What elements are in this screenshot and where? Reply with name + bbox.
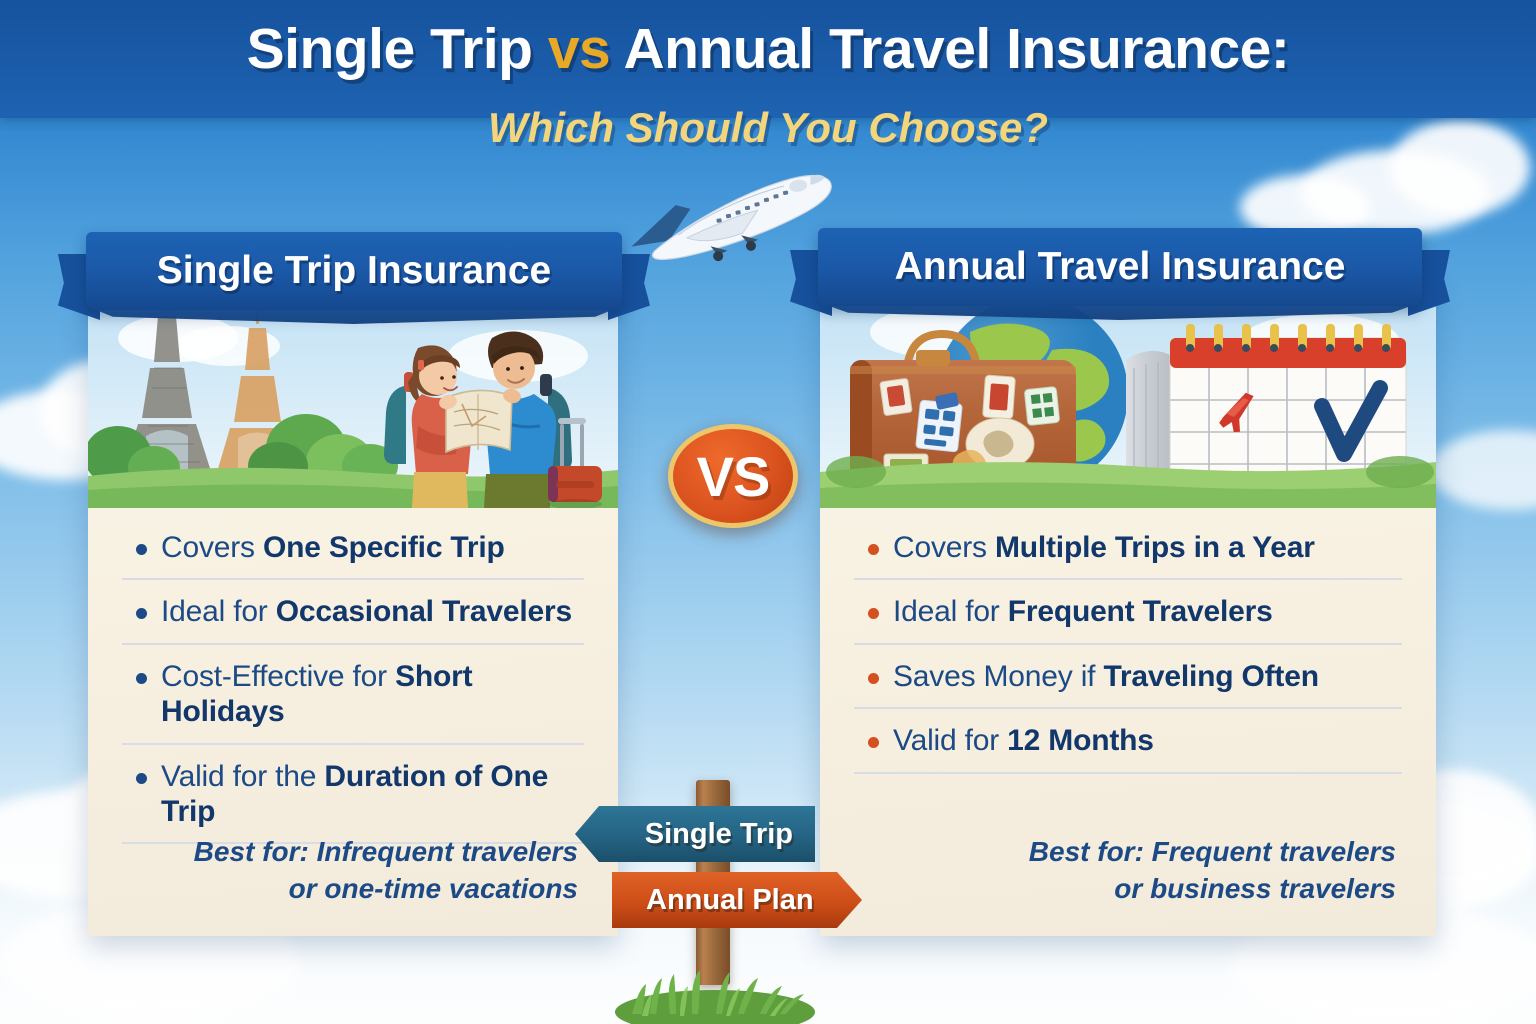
vs-badge-ring: VS bbox=[668, 424, 798, 528]
vs-badge-label: VS bbox=[697, 444, 770, 509]
best-for-line1: Best for: Infrequent travelers bbox=[128, 834, 578, 871]
best-for-line2: or business travelers bbox=[860, 871, 1396, 908]
feature-text: Covers bbox=[161, 531, 263, 564]
annual-travel-banner-label: Annual Travel Insurance bbox=[895, 245, 1346, 289]
list-item: Cost-Effective for Short Holidays bbox=[122, 645, 584, 745]
signpost-plate: Annual Plan bbox=[612, 872, 862, 928]
best-for-line2: or one-time vacations bbox=[128, 871, 578, 908]
list-item: Ideal for Occasional Travelers bbox=[122, 580, 584, 644]
feature-emphasis: 12 Months bbox=[1007, 724, 1154, 757]
bullet-icon bbox=[868, 737, 879, 748]
page-title: Single Trip vs Annual Travel Insurance: bbox=[0, 20, 1536, 78]
feature-text: Valid for the bbox=[161, 760, 324, 793]
feature-text: Valid for bbox=[893, 724, 1007, 757]
feature-emphasis: One Specific Trip bbox=[263, 531, 505, 564]
bullet-icon bbox=[868, 544, 879, 555]
list-item: Valid for 12 Months bbox=[854, 709, 1402, 773]
annual-travel-feature-list: Covers Multiple Trips in a Year Ideal fo… bbox=[820, 516, 1436, 774]
feature-emphasis: Occasional Travelers bbox=[276, 595, 572, 628]
vs-badge: VS bbox=[668, 424, 798, 528]
feature-text: Saves Money if bbox=[893, 660, 1103, 693]
bullet-icon bbox=[136, 544, 147, 555]
grass-tuft bbox=[612, 950, 818, 1024]
feature-text: Cost-Effective for bbox=[161, 660, 395, 693]
single-trip-banner-label: Single Trip Insurance bbox=[157, 249, 551, 293]
single-trip-signpost[interactable]: Single Trip bbox=[575, 806, 815, 862]
page-title-part1: Single Trip bbox=[247, 17, 548, 81]
feature-text: Ideal for bbox=[161, 595, 276, 628]
single-trip-sign-label: Single Trip bbox=[645, 818, 793, 851]
bullet-icon bbox=[136, 673, 147, 684]
single-trip-best-for: Best for: Infrequent travelers or one-ti… bbox=[88, 834, 618, 908]
list-item: Valid for the Duration of One Trip bbox=[122, 745, 584, 845]
list-item: Saves Money if Traveling Often bbox=[854, 645, 1402, 709]
page-subtitle: Which Should You Choose? bbox=[0, 104, 1536, 152]
feature-text: Covers bbox=[893, 531, 995, 564]
feature-emphasis: Frequent Travelers bbox=[1008, 595, 1273, 628]
bullet-icon bbox=[136, 773, 147, 784]
annual-plan-signpost[interactable]: Annual Plan bbox=[612, 872, 862, 928]
list-item: Covers Multiple Trips in a Year bbox=[854, 516, 1402, 580]
feature-text: Ideal for bbox=[893, 595, 1008, 628]
bullet-icon bbox=[136, 608, 147, 619]
feature-emphasis: Multiple Trips in a Year bbox=[995, 531, 1315, 564]
single-trip-card: Covers One Specific Trip Ideal for Occas… bbox=[88, 276, 618, 936]
single-trip-banner: Single Trip Insurance bbox=[62, 232, 646, 310]
bullet-icon bbox=[868, 673, 879, 684]
bullet-icon bbox=[868, 608, 879, 619]
annual-travel-banner: Annual Travel Insurance bbox=[794, 228, 1446, 306]
ribbon-body: Annual Travel Insurance bbox=[818, 228, 1422, 306]
feature-emphasis: Traveling Often bbox=[1103, 660, 1318, 693]
page-title-part2: Annual Travel Insurance: bbox=[610, 17, 1289, 81]
annual-travel-card: Covers Multiple Trips in a Year Ideal fo… bbox=[820, 276, 1436, 936]
best-for-line1: Best for: Frequent travelers bbox=[860, 834, 1396, 871]
infographic-canvas: Single Trip vs Annual Travel Insurance: … bbox=[0, 0, 1536, 1024]
signpost-plate: Single Trip bbox=[575, 806, 815, 862]
list-item: Ideal for Frequent Travelers bbox=[854, 580, 1402, 644]
page-title-vs: vs bbox=[548, 17, 610, 81]
annual-travel-best-for: Best for: Frequent travelers or business… bbox=[820, 834, 1436, 908]
ribbon-body: Single Trip Insurance bbox=[86, 232, 622, 310]
list-item: Covers One Specific Trip bbox=[122, 516, 584, 580]
annual-plan-sign-label: Annual Plan bbox=[646, 884, 814, 917]
single-trip-feature-list: Covers One Specific Trip Ideal for Occas… bbox=[88, 516, 618, 844]
